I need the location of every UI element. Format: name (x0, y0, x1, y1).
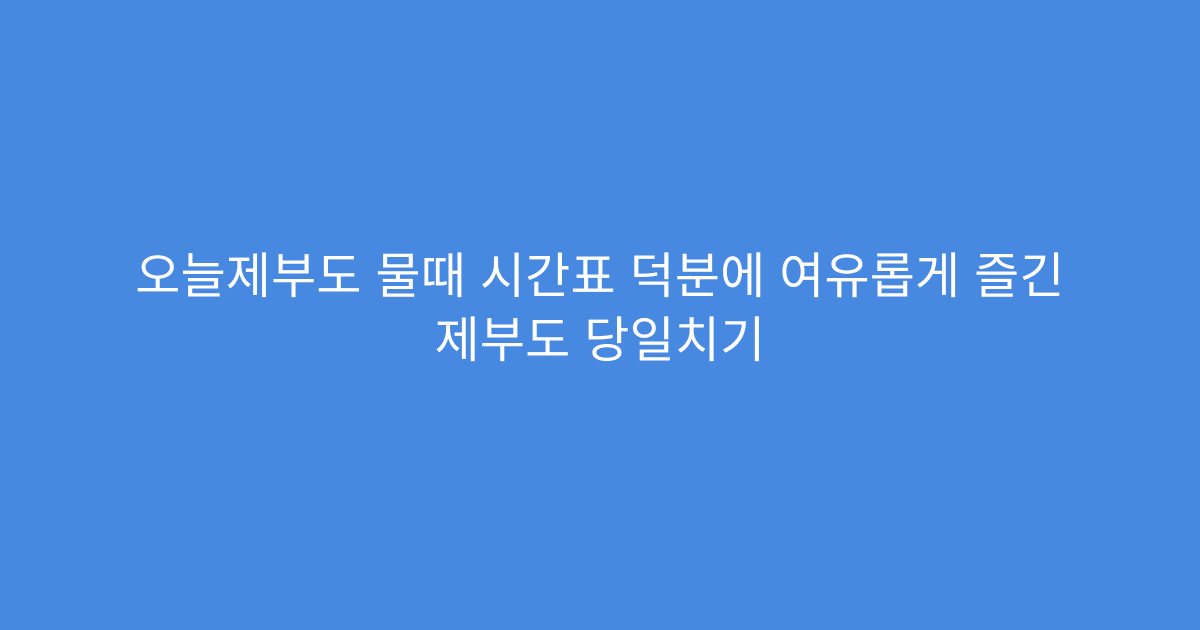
share-card: 오늘제부도 물때 시간표 덕분에 여유롭게 즐긴 제부도 당일치기 (0, 0, 1200, 630)
page-title: 오늘제부도 물때 시간표 덕분에 여유롭게 즐긴 제부도 당일치기 (70, 245, 1130, 373)
share-card-content: 오늘제부도 물때 시간표 덕분에 여유롭게 즐긴 제부도 당일치기 (70, 245, 1130, 373)
